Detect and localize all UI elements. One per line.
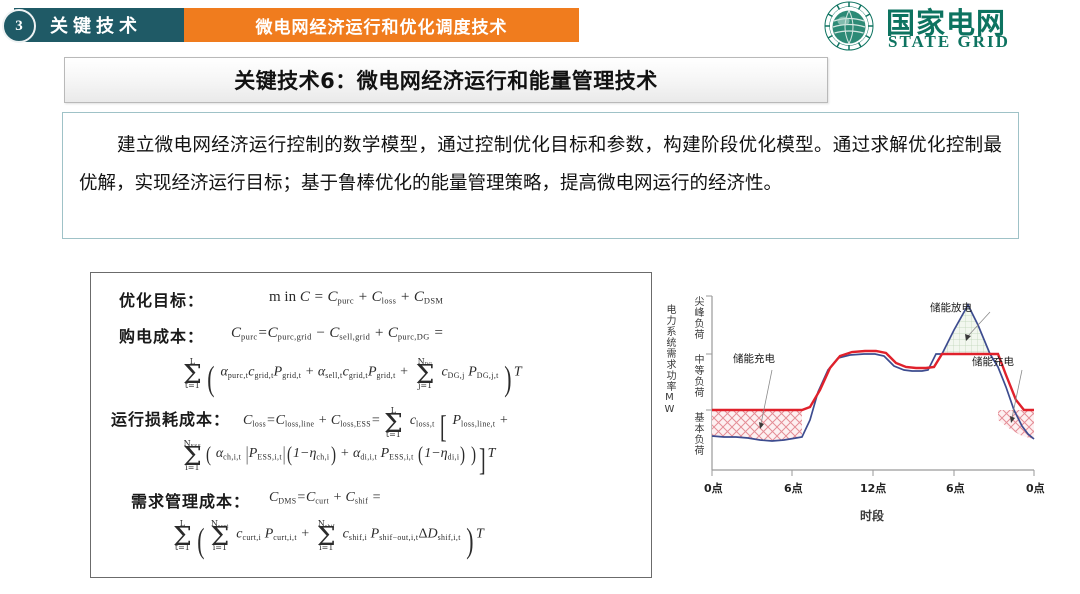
loss-cost-summation: ΣNESSi=1 ( αch,i,t |PESS,i,t|(1−ηch,i) +… <box>183 441 495 478</box>
chart-xtick-2: 12点 <box>860 480 886 496</box>
dms-cost-summation: ΣLt=1 ( ΣNcurti=1 ccurt,i Pcurt,i,t + ΣN… <box>173 521 484 561</box>
description-text: 建立微电网经济运行控制的数学模型，通过控制优化目标和参数，构建阶段优化模型。通过… <box>79 127 1002 203</box>
loss-cost-equation: Closs=Closs,line + Closs,ESS= ΣLt=1 clos… <box>243 408 508 445</box>
section-number-badge: 3 <box>2 9 36 43</box>
objective-equation: m in C = Cpurc + Closs + CDSM <box>269 289 443 306</box>
load-profile-chart: 电力系统需求功率MW 尖峰负荷 中等负荷 基本负荷 <box>660 292 1050 532</box>
header-topic-band: 微电网经济运行和优化调度技术 <box>184 8 579 42</box>
annotation-discharge: 储能放电 <box>930 300 972 315</box>
chart-xtick-0: 0点 <box>704 480 723 496</box>
purchase-cost-equation: Cpurc=Cpurc,grid − Csell,grid + Cpurc,DG… <box>231 325 444 342</box>
chart-x-axis-label: 时段 <box>860 507 884 524</box>
objective-label: 优化目标： <box>119 291 204 310</box>
state-grid-logo: 国家电网 STATE GRID <box>810 0 1070 52</box>
slide-title-box: 关键技术6：微电网经济运行和能量管理技术 <box>64 57 828 103</box>
slide-header: 3 关键技术 微电网经济运行和优化调度技术 国家电网 STATE GR <box>0 0 1080 50</box>
annotation-charge-right: 储能充电 <box>972 354 1014 369</box>
dms-cost-label: 需求管理成本： <box>131 492 250 511</box>
page-title: 关键技术6：微电网经济运行和能量管理技术 <box>234 65 658 95</box>
chart-xtick-1: 6点 <box>784 480 803 496</box>
chart-xtick-4: 0点 <box>1026 480 1045 496</box>
formula-panel: 优化目标： m in C = Cpurc + Closs + CDSM 购电成本… <box>90 272 652 578</box>
section-label: 关键技术 <box>50 12 142 38</box>
annotation-charge-left: 储能充电 <box>733 351 775 366</box>
dms-cost-equation: CDMS=Ccurt + Cshif = <box>269 490 381 506</box>
loss-cost-label: 运行损耗成本： <box>111 410 230 429</box>
purchase-cost-summation: ΣLt=1 ( αpurc,tcgrid,tPgrid,t + αsell,tc… <box>183 359 522 399</box>
state-grid-globe-icon <box>824 1 874 51</box>
topic-label: 微电网经济运行和优化调度技术 <box>256 13 508 38</box>
purchase-cost-label: 购电成本： <box>119 327 204 346</box>
description-box: 建立微电网经济运行控制的数学模型，通过控制优化目标和参数，构建阶段优化模型。通过… <box>62 112 1019 239</box>
chart-xtick-3: 6点 <box>946 480 965 496</box>
chart-plot-area <box>660 292 1050 532</box>
logo-text-en: STATE GRID <box>888 32 1010 52</box>
